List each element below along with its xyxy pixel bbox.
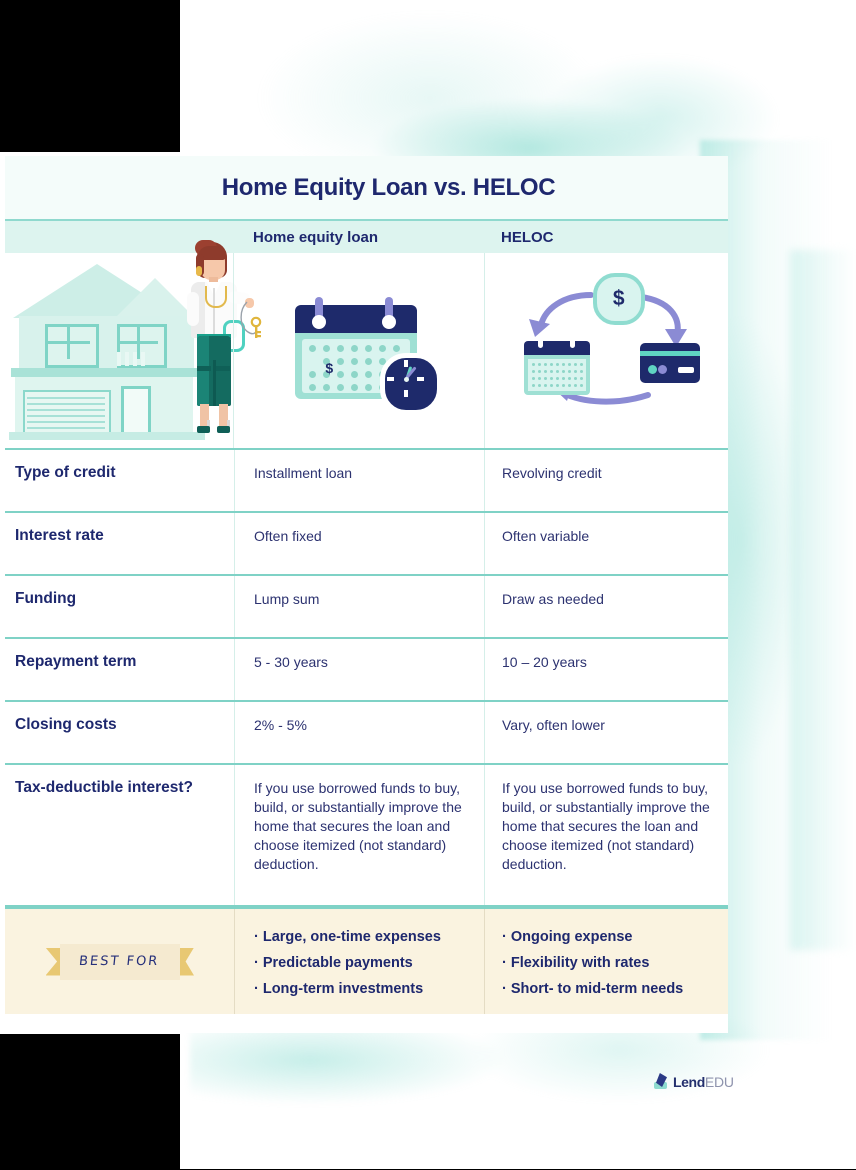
house-eave xyxy=(11,368,203,377)
row-label: Type of credit xyxy=(5,450,234,511)
comparison-table-card: Home Equity Loan vs. HELOC Home equity l… xyxy=(5,156,728,1033)
list-item: ·Long-term investments xyxy=(254,976,474,1002)
row-value-col2: Draw as needed xyxy=(484,576,728,637)
mini-calendar-dot xyxy=(556,377,559,380)
mini-calendar-dot xyxy=(580,384,583,387)
lendedu-logo: Lend EDU xyxy=(652,1071,742,1093)
mini-calendar-dot xyxy=(550,377,553,380)
row-label: Funding xyxy=(5,576,234,637)
list-item: ·Short- to mid-term needs xyxy=(502,976,718,1002)
mini-calendar-dot xyxy=(532,363,535,366)
mini-calendar-dot xyxy=(532,384,535,387)
table-row: Repayment term 5 - 30 years 10 – 20 year… xyxy=(5,639,728,702)
row-value-col2: Vary, often lower xyxy=(484,702,728,763)
header-cell-home-equity-loan: Home equity loan xyxy=(234,221,484,253)
list-item: ·Ongoing expense xyxy=(502,924,718,950)
mini-calendar-dot xyxy=(538,363,541,366)
mini-calendar-dot xyxy=(574,363,577,366)
page-title: Home Equity Loan vs. HELOC xyxy=(222,174,556,202)
dollar-coin-icon: $ xyxy=(593,273,645,325)
money-flow-illustration: $ xyxy=(505,269,710,409)
mini-calendar-dot xyxy=(574,370,577,373)
home-equity-loan-illustration-cell: $ xyxy=(233,253,483,448)
earring-icon xyxy=(196,266,202,276)
coin-dollar-symbol: $ xyxy=(613,287,625,311)
mini-calendar-dot xyxy=(556,384,559,387)
mini-calendar-dot xyxy=(538,370,541,373)
row-value-col2: Often variable xyxy=(484,513,728,574)
best-for-ribbon-icon: BEST FOR xyxy=(46,944,194,980)
mini-calendar-dot xyxy=(562,384,565,387)
mini-calendar-dot xyxy=(562,377,565,380)
list-item-label: Short- to mid-term needs xyxy=(511,981,683,997)
mini-calendar-icon xyxy=(524,335,590,389)
row-label: Closing costs xyxy=(5,702,234,763)
best-for-list-col2: ·Ongoing expense ·Flexibility with rates… xyxy=(484,909,728,1014)
row-value-col2: If you use borrowed funds to buy, build,… xyxy=(484,765,728,905)
house-garage-door-icon xyxy=(23,390,111,438)
mini-calendar-dot xyxy=(568,377,571,380)
logo-text-lend: Lend xyxy=(673,1074,705,1090)
best-for-list-col1: ·Large, one-time expenses ·Predictable p… xyxy=(234,909,484,1014)
best-for-row: BEST FOR ·Large, one-time expenses ·Pred… xyxy=(5,907,728,1014)
mini-calendar-dot xyxy=(580,370,583,373)
list-item-label: Predictable payments xyxy=(263,955,413,971)
mini-calendar-dot xyxy=(532,377,535,380)
mini-calendar-dot xyxy=(538,384,541,387)
list-item-label: Ongoing expense xyxy=(511,929,633,945)
mini-calendar-dot xyxy=(550,384,553,387)
row-value-col1: Often fixed xyxy=(234,513,484,574)
mini-calendar-dot xyxy=(532,370,535,373)
row-label: Repayment term xyxy=(5,639,234,700)
credit-card-icon xyxy=(640,343,700,383)
header-cell-heloc: HELOC xyxy=(484,221,728,253)
table-row: Type of credit Installment loan Revolvin… xyxy=(5,450,728,513)
row-label: Tax-deductible interest? xyxy=(5,765,234,905)
list-item-label: Long-term investments xyxy=(263,981,423,997)
mini-calendar-dot xyxy=(544,377,547,380)
heloc-illustration-cell: $ xyxy=(484,253,728,448)
best-for-label: BEST FOR xyxy=(79,954,161,969)
row-value-col2: Revolving credit xyxy=(484,450,728,511)
list-item: ·Flexibility with rates xyxy=(502,950,718,976)
bullet-icon: · xyxy=(502,981,507,997)
mini-calendar-dot xyxy=(550,370,553,373)
mini-calendar-dot xyxy=(568,370,571,373)
mini-calendar-dot xyxy=(562,363,565,366)
header-label-col2: HELOC xyxy=(501,229,554,246)
mini-calendar-dot xyxy=(556,363,559,366)
list-item-label: Large, one-time expenses xyxy=(263,929,441,945)
list-item: ·Predictable payments xyxy=(254,950,474,976)
bullet-icon: · xyxy=(502,929,507,945)
table-row: Funding Lump sum Draw as needed xyxy=(5,576,728,639)
table-row: Tax-deductible interest? If you use borr… xyxy=(5,765,728,907)
mini-calendar-dot xyxy=(568,384,571,387)
calendar-dollar-symbol: $ xyxy=(325,360,333,376)
mini-calendar-dot xyxy=(550,363,553,366)
mini-calendar-dot xyxy=(580,377,583,380)
clock-icon xyxy=(380,353,442,415)
calendar-clock-illustration: $ xyxy=(287,291,432,406)
bullet-icon: · xyxy=(502,955,507,971)
house-base xyxy=(9,432,205,440)
bullet-icon: · xyxy=(254,981,259,997)
row-value-col1: Installment loan xyxy=(234,450,484,511)
list-item: ·Large, one-time expenses xyxy=(254,924,474,950)
row-value-col1: 5 - 30 years xyxy=(234,639,484,700)
house-illustration xyxy=(5,246,245,451)
mini-calendar-dot xyxy=(574,377,577,380)
necklace-icon xyxy=(205,286,227,308)
illustration-row: $ xyxy=(5,253,728,450)
bullet-icon: · xyxy=(254,929,259,945)
row-label: Interest rate xyxy=(5,513,234,574)
list-item-label: Flexibility with rates xyxy=(511,955,650,971)
logo-text-edu: EDU xyxy=(705,1074,734,1090)
mini-calendar-dot xyxy=(574,384,577,387)
house-illustration-cell xyxy=(5,253,233,448)
row-value-col1: 2% - 5% xyxy=(234,702,484,763)
mini-calendar-dot xyxy=(556,370,559,373)
mini-calendar-dot xyxy=(568,363,571,366)
mini-calendar-dot xyxy=(562,370,565,373)
mini-calendar-dot xyxy=(544,384,547,387)
lendedu-logo-mark-icon xyxy=(652,1073,670,1091)
mini-calendar-dot xyxy=(538,377,541,380)
row-value-col2: 10 – 20 years xyxy=(484,639,728,700)
row-value-col1: If you use borrowed funds to buy, build,… xyxy=(234,765,484,905)
house-window-left-icon xyxy=(45,324,99,368)
mini-calendar-dot xyxy=(544,370,547,373)
table-row: Closing costs 2% - 5% Vary, often lower xyxy=(5,702,728,765)
header-label-col1: Home equity loan xyxy=(253,229,378,246)
title-bar: Home Equity Loan vs. HELOC xyxy=(5,156,728,221)
row-value-col1: Lump sum xyxy=(234,576,484,637)
mini-calendar-dot xyxy=(544,363,547,366)
best-for-badge-cell: BEST FOR xyxy=(5,909,234,1014)
table-row: Interest rate Often fixed Often variable xyxy=(5,513,728,576)
paper-top-left-notch xyxy=(180,0,250,150)
mini-calendar-dot xyxy=(580,363,583,366)
bullet-icon: · xyxy=(254,955,259,971)
